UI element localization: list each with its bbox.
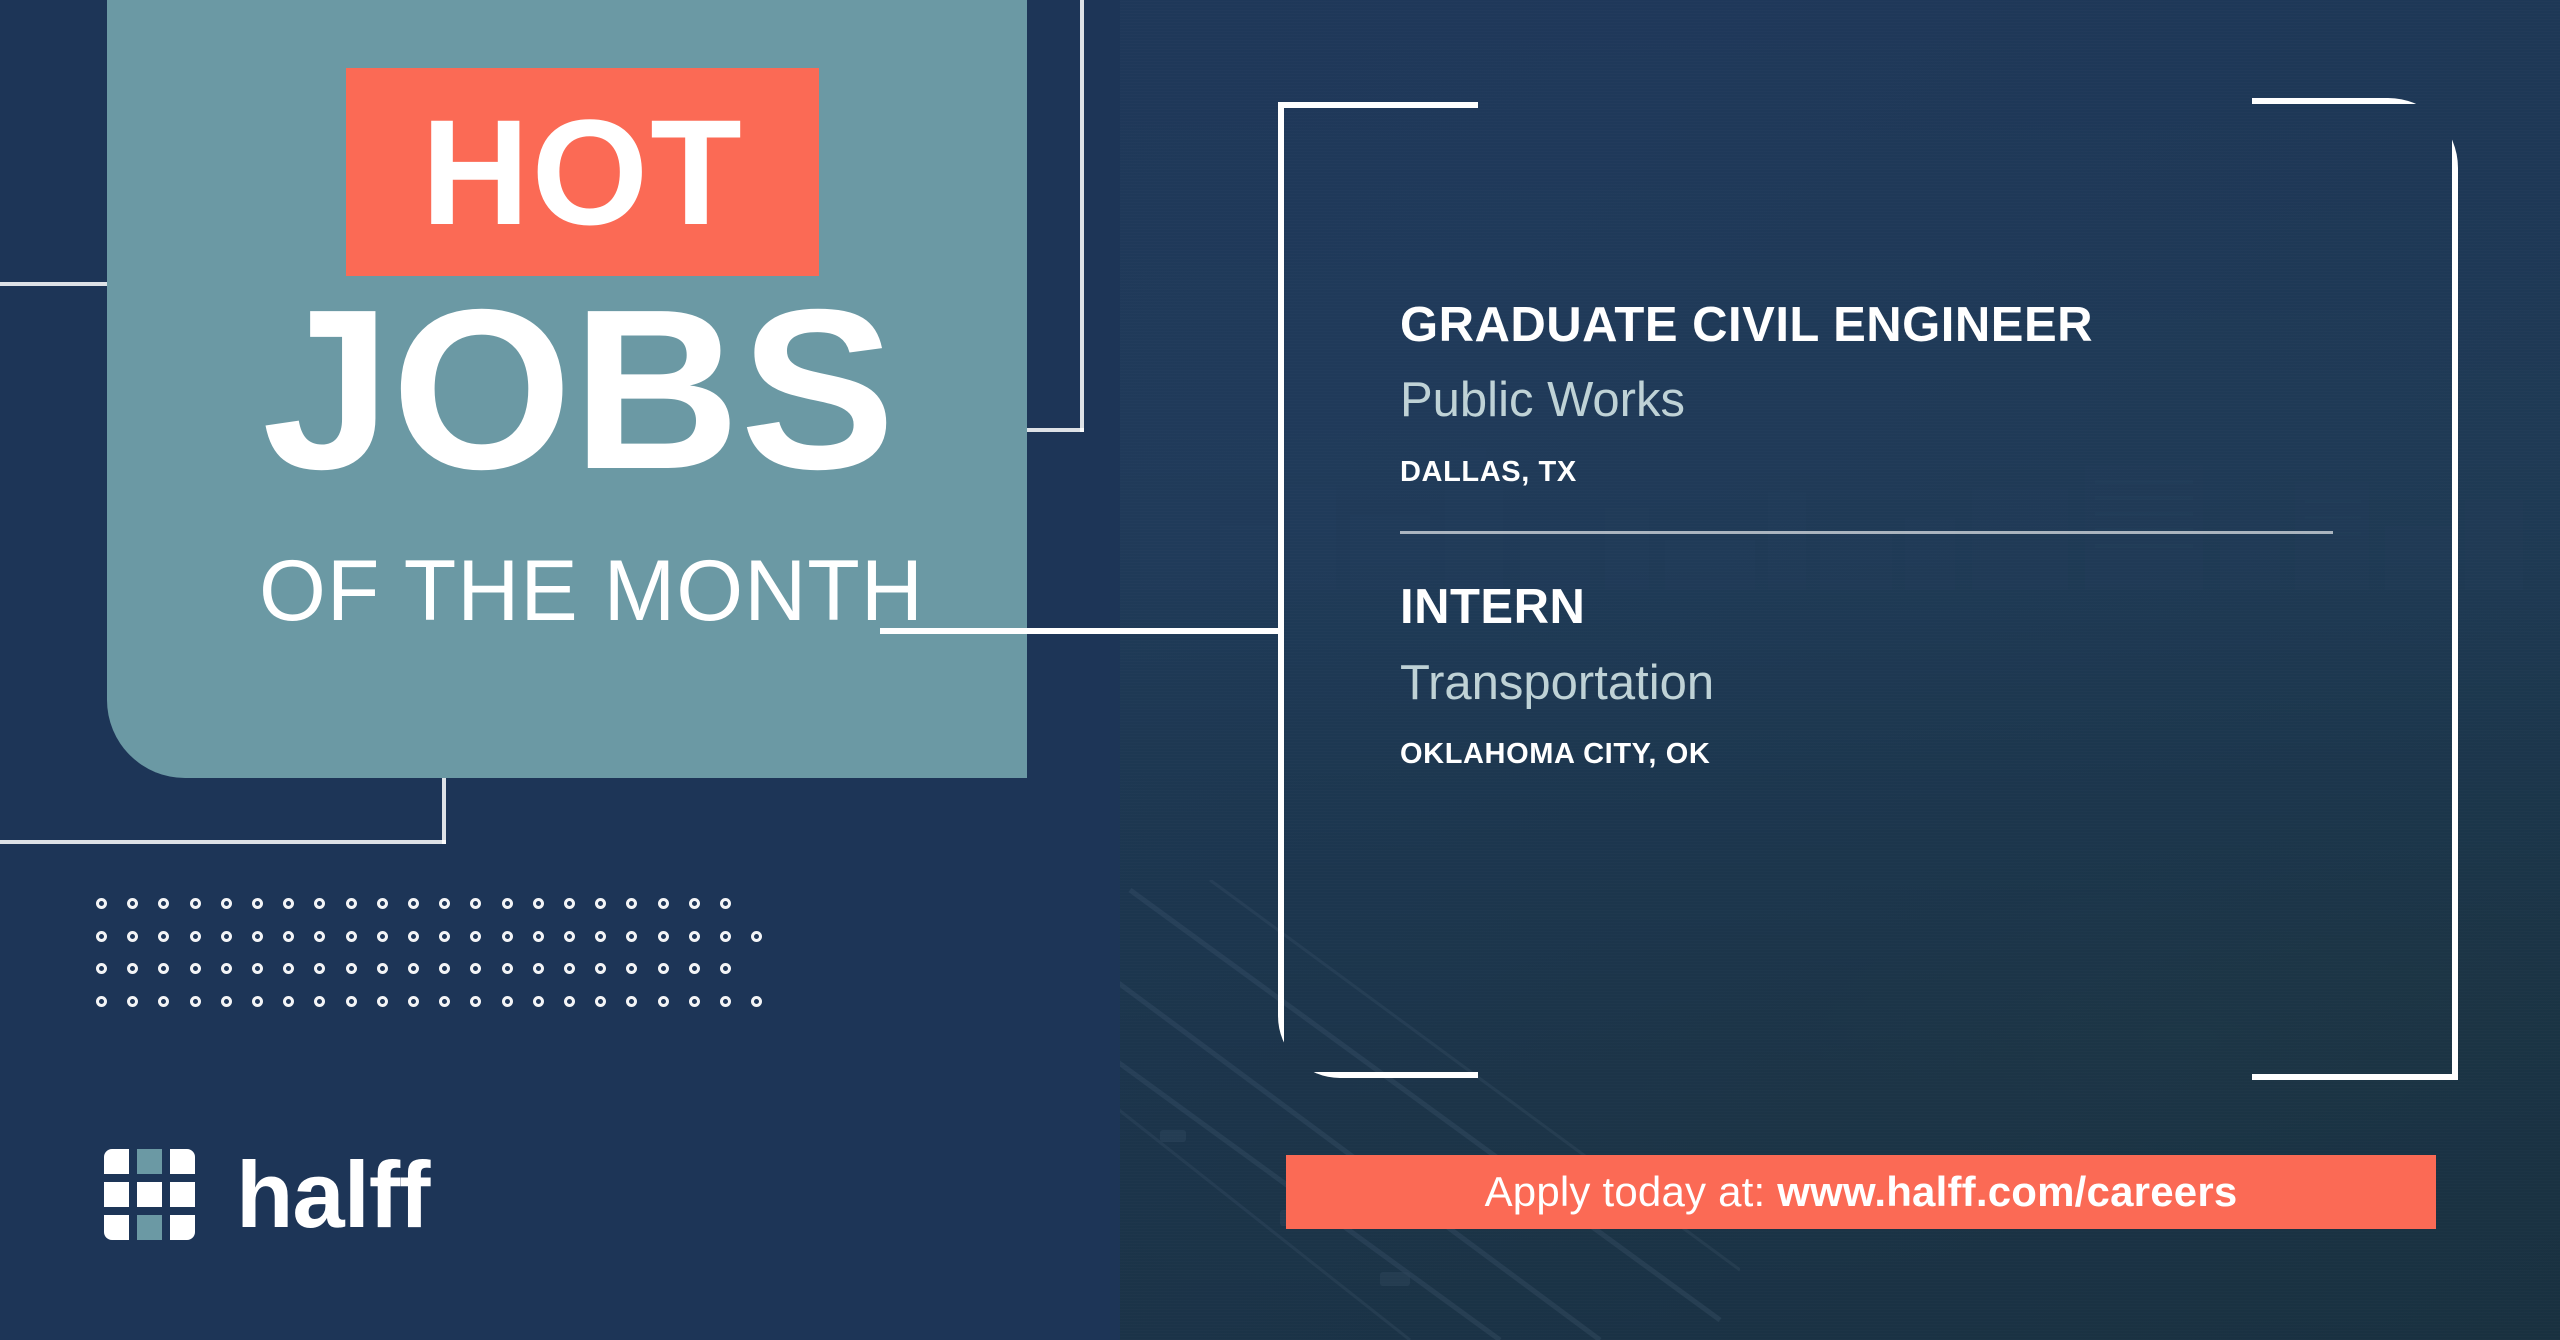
hot-badge: HOT bbox=[346, 68, 819, 276]
decor-dot bbox=[158, 898, 169, 909]
decor-dot bbox=[221, 898, 232, 909]
bottom-left-navy-panel bbox=[0, 780, 1120, 1340]
decor-dot bbox=[470, 898, 481, 909]
job-location: OKLAHOMA CITY, OK bbox=[1400, 739, 2360, 769]
apply-cta-bar[interactable]: Apply today at: www.halff.com/careers bbox=[1286, 1155, 2436, 1229]
of-the-month-label: OF THE MONTH bbox=[259, 548, 924, 634]
logo-cell-4 bbox=[104, 1182, 129, 1207]
decor-dot bbox=[408, 996, 419, 1007]
decor-dot bbox=[470, 963, 481, 974]
decor-dot bbox=[564, 963, 575, 974]
decor-dot bbox=[96, 963, 107, 974]
decor-dot bbox=[408, 963, 419, 974]
decor-dot bbox=[689, 931, 700, 942]
decor-dot-grid bbox=[96, 898, 1216, 1058]
decor-dot bbox=[190, 996, 201, 1007]
decor-dot bbox=[127, 963, 138, 974]
decor-line-left bbox=[0, 282, 110, 286]
decor-dot bbox=[439, 963, 450, 974]
decor-dot bbox=[502, 996, 513, 1007]
halff-logo: halff bbox=[104, 1148, 429, 1242]
decor-dot bbox=[595, 898, 606, 909]
apply-cta-prefix: Apply today at: bbox=[1485, 1168, 1778, 1215]
decor-dot bbox=[346, 963, 357, 974]
decor-dot bbox=[439, 898, 450, 909]
decor-dot bbox=[190, 898, 201, 909]
decor-dot bbox=[689, 898, 700, 909]
decor-dot bbox=[720, 996, 731, 1007]
decor-dot bbox=[96, 931, 107, 942]
decor-dot bbox=[346, 931, 357, 942]
decor-dot bbox=[190, 963, 201, 974]
decor-dot bbox=[252, 996, 263, 1007]
decor-dot bbox=[658, 931, 669, 942]
decor-dot bbox=[221, 963, 232, 974]
logo-cell-7 bbox=[104, 1215, 129, 1240]
job-department: Public Works bbox=[1400, 375, 2360, 426]
decor-dot bbox=[626, 898, 637, 909]
job-listings: GRADUATE CIVIL ENGINEER Public Works DAL… bbox=[1400, 300, 2360, 770]
apply-cta-text: Apply today at: www.halff.com/careers bbox=[1485, 1168, 2238, 1216]
decor-dot bbox=[751, 931, 762, 942]
decor-dot bbox=[439, 996, 450, 1007]
decor-dot bbox=[127, 931, 138, 942]
decor-dot bbox=[658, 963, 669, 974]
halff-grid-mark bbox=[104, 1149, 196, 1241]
decor-dot bbox=[595, 931, 606, 942]
decor-dot bbox=[533, 931, 544, 942]
decor-dot bbox=[658, 898, 669, 909]
jobs-label: JOBS bbox=[262, 276, 895, 504]
job-title: GRADUATE CIVIL ENGINEER bbox=[1400, 300, 2360, 351]
headline-card: HOT JOBS OF THE MONTH bbox=[107, 0, 1027, 778]
decor-dot bbox=[502, 898, 513, 909]
hot-label: HOT bbox=[346, 97, 819, 247]
decor-dot bbox=[96, 898, 107, 909]
decor-dot bbox=[377, 931, 388, 942]
logo-cell-9 bbox=[170, 1215, 195, 1240]
decor-dot bbox=[751, 996, 762, 1007]
decor-dot bbox=[408, 898, 419, 909]
decor-dot bbox=[252, 898, 263, 909]
decor-dot bbox=[502, 963, 513, 974]
decor-dot bbox=[595, 963, 606, 974]
logo-cell-5 bbox=[137, 1182, 162, 1207]
hot-jobs-poster: HOT JOBS OF THE MONTH GRADUATE CIVIL ENG… bbox=[0, 0, 2560, 1340]
decor-dot bbox=[283, 996, 294, 1007]
decor-dot bbox=[158, 963, 169, 974]
decor-dot bbox=[595, 996, 606, 1007]
job-listing: GRADUATE CIVIL ENGINEER Public Works DAL… bbox=[1400, 300, 2360, 487]
logo-cell-2 bbox=[137, 1149, 162, 1174]
decor-dot bbox=[96, 996, 107, 1007]
job-location: DALLAS, TX bbox=[1400, 457, 2360, 487]
halff-wordmark: halff bbox=[236, 1148, 429, 1242]
decor-dot bbox=[158, 931, 169, 942]
decor-dot bbox=[689, 996, 700, 1007]
decor-dot bbox=[252, 963, 263, 974]
decor-dot bbox=[564, 931, 575, 942]
job-department: Transportation bbox=[1400, 658, 2360, 709]
logo-cell-3 bbox=[170, 1149, 195, 1174]
decor-dot bbox=[470, 996, 481, 1007]
decor-dot bbox=[533, 898, 544, 909]
decor-bracket-lower-vertical bbox=[442, 770, 446, 844]
decor-dot bbox=[190, 931, 201, 942]
decor-dot bbox=[408, 931, 419, 942]
decor-dot bbox=[533, 963, 544, 974]
decor-dot bbox=[346, 996, 357, 1007]
decor-dot bbox=[626, 996, 637, 1007]
decor-dot bbox=[626, 963, 637, 974]
decor-dot bbox=[221, 931, 232, 942]
decor-dot bbox=[564, 898, 575, 909]
decor-dot bbox=[377, 996, 388, 1007]
decor-dot bbox=[314, 931, 325, 942]
decor-dot bbox=[127, 898, 138, 909]
decor-dot bbox=[314, 996, 325, 1007]
decor-dot bbox=[377, 898, 388, 909]
job-title: INTERN bbox=[1400, 582, 2360, 633]
decor-line-vertical-top-foot bbox=[1020, 428, 1084, 432]
decor-dot bbox=[158, 996, 169, 1007]
decor-dot bbox=[346, 898, 357, 909]
job-spacer bbox=[1400, 534, 2360, 582]
decor-dot bbox=[720, 898, 731, 909]
job-listing: INTERN Transportation OKLAHOMA CITY, OK bbox=[1400, 582, 2360, 769]
decor-dot bbox=[626, 931, 637, 942]
decor-dot bbox=[658, 996, 669, 1007]
logo-cell-6 bbox=[170, 1182, 195, 1207]
decor-dot bbox=[221, 996, 232, 1007]
decor-dot bbox=[283, 898, 294, 909]
decor-bracket-lower-horizontal bbox=[0, 840, 446, 844]
decor-dot bbox=[377, 963, 388, 974]
decor-dot bbox=[283, 931, 294, 942]
apply-cta-url: www.halff.com/careers bbox=[1777, 1168, 2237, 1215]
logo-cell-1 bbox=[104, 1149, 129, 1174]
decor-dot bbox=[439, 931, 450, 942]
decor-dot bbox=[314, 963, 325, 974]
logo-cell-8 bbox=[137, 1215, 162, 1240]
decor-dot bbox=[314, 898, 325, 909]
decor-dot bbox=[689, 963, 700, 974]
decor-connector-line bbox=[880, 628, 1280, 634]
decor-dot bbox=[283, 963, 294, 974]
decor-dot bbox=[720, 963, 731, 974]
decor-dot bbox=[127, 996, 138, 1007]
decor-dot bbox=[720, 931, 731, 942]
decor-dot bbox=[564, 996, 575, 1007]
decor-dot bbox=[252, 931, 263, 942]
decor-dot bbox=[470, 931, 481, 942]
decor-dot bbox=[533, 996, 544, 1007]
decor-line-vertical-top bbox=[1080, 0, 1084, 432]
decor-dot bbox=[502, 931, 513, 942]
